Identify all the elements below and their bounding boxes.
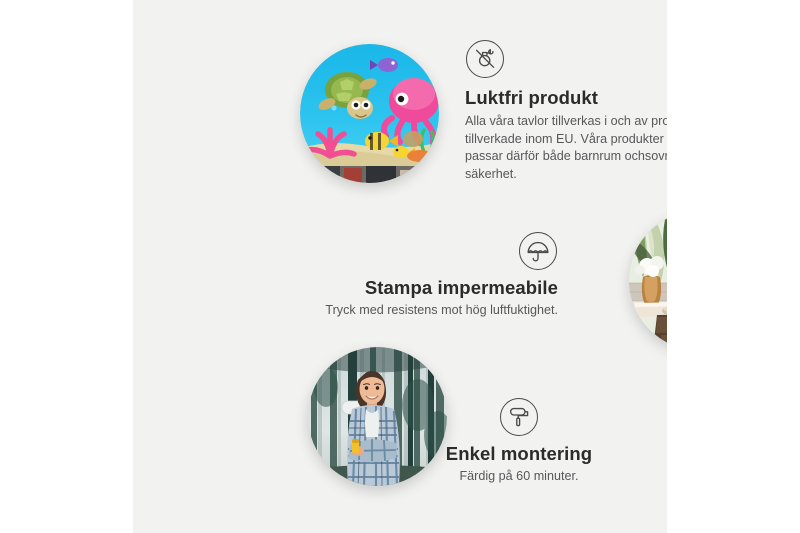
screenshot-root: Luktfri produkt Alla våra tavlor tillver… [0,0,800,533]
feature-title: Stampa impermeabile [218,277,558,299]
feature-title: Enkel montering [369,443,667,465]
feature-description: Färdig på 60 minuter. [369,468,667,486]
no-smell-spray-bottle-icon [466,40,504,78]
paint-roller-icon [500,398,538,436]
photo-bathroom-wallpaper [629,211,667,350]
feature-waterproof: Stampa impermeabile Tryck med resistens … [218,232,558,320]
umbrella-icon [519,232,557,270]
photo-underwater-mural [300,44,439,183]
feature-odourless: Luktfri produkt Alla våra tavlor tillver… [465,40,667,183]
feature-title: Luktfri produkt [465,87,667,109]
feature-panel: Luktfri produkt Alla våra tavlor tillver… [133,0,667,533]
feature-easy-installation: Enkel montering Färdig på 60 minuter. [369,398,667,486]
feature-description: Alla våra tavlor tillverkas i och av pro… [465,113,667,183]
feature-description: Tryck med resistens mot hög luftfuktighe… [218,302,558,320]
